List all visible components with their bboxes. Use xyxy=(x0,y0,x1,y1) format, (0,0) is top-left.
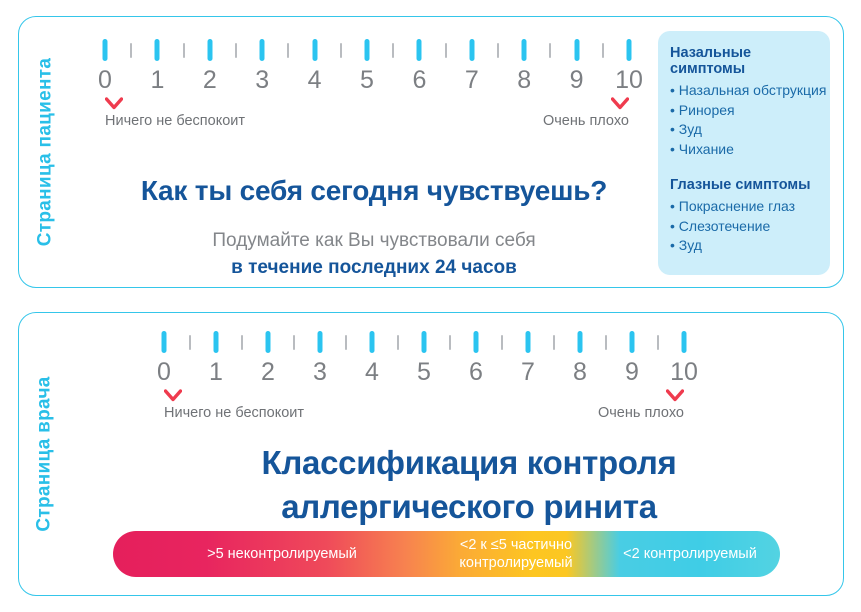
scale-number-8: 8 xyxy=(517,65,531,95)
scale-tick-minor xyxy=(287,43,289,58)
scale-number-3: 3 xyxy=(313,357,327,387)
scale-number-9: 9 xyxy=(570,65,584,95)
symptom-item: • Чихание xyxy=(670,140,818,160)
scale-number-4: 4 xyxy=(365,357,379,387)
chevron-down-icon xyxy=(666,389,684,402)
scale-tick-minor xyxy=(189,335,191,350)
scale-tick-minor xyxy=(183,43,185,58)
scale-tick-major xyxy=(214,331,219,353)
scale-tick-minor xyxy=(602,43,604,58)
scale-tick-major xyxy=(260,39,265,61)
scale-number-7: 7 xyxy=(465,65,479,95)
doctor-title-line1: Классификация контроля xyxy=(119,441,819,485)
scale-tick-minor xyxy=(445,43,447,58)
doctor-scale-numbers: 012345678910 xyxy=(164,357,684,389)
symptom-item: • Назальная обструкция xyxy=(670,81,818,101)
scale-tick-major xyxy=(417,39,422,61)
doctor-scale-ticks xyxy=(164,331,684,357)
chevron-down-icon xyxy=(611,97,629,110)
symptom-item: • Зуд xyxy=(670,120,818,140)
patient-subtitle-line2: в течение последних 24 часов xyxy=(79,257,669,279)
scale-tick-minor xyxy=(549,43,551,58)
scale-tick-major xyxy=(682,331,687,353)
scale-tick-major xyxy=(578,331,583,353)
scale-tick-minor xyxy=(657,335,659,350)
patient-anchor-right: Очень плохо xyxy=(543,97,629,129)
scale-tick-major xyxy=(312,39,317,61)
scale-tick-minor xyxy=(501,335,503,350)
patient-anchor-left: Ничего не беспокоит xyxy=(105,97,245,129)
scale-number-8: 8 xyxy=(573,357,587,387)
patient-scale-numbers: 012345678910 xyxy=(105,65,629,97)
scale-tick-minor xyxy=(345,335,347,350)
scale-tick-major xyxy=(155,39,160,61)
scale-number-5: 5 xyxy=(360,65,374,95)
scale-tick-minor xyxy=(241,335,243,350)
scale-number-10: 10 xyxy=(615,65,643,95)
scale-number-3: 3 xyxy=(255,65,269,95)
classification-segment-controlled: <2 контролируемый xyxy=(609,545,771,563)
doctor-page-title: Классификация контроля аллергического ри… xyxy=(119,441,819,529)
doctor-vas-scale[interactable]: 012345678910 Ничего не беспокоит Очень п… xyxy=(164,331,684,433)
symptom-item: • Покраснение глаз xyxy=(670,197,818,217)
patient-anchor-right-text: Очень плохо xyxy=(543,113,629,129)
scale-tick-major xyxy=(318,331,323,353)
scale-tick-minor xyxy=(397,335,399,350)
chevron-down-icon xyxy=(105,97,123,110)
patient-vas-scale[interactable]: 012345678910 Ничего не беспокоит Очень п… xyxy=(105,39,629,141)
scale-tick-major xyxy=(207,39,212,61)
scale-tick-major xyxy=(365,39,370,61)
scale-tick-major xyxy=(526,331,531,353)
scale-tick-major xyxy=(370,331,375,353)
scale-tick-major xyxy=(266,331,271,353)
scale-tick-major xyxy=(474,331,479,353)
scale-number-4: 4 xyxy=(308,65,322,95)
scale-number-2: 2 xyxy=(203,65,217,95)
chevron-down-icon xyxy=(164,389,182,402)
doctor-anchor-left: Ничего не беспокоит xyxy=(164,389,304,421)
doctor-side-label-text: Страница врача xyxy=(34,376,56,531)
scale-number-6: 6 xyxy=(469,357,483,387)
scale-tick-minor xyxy=(293,335,295,350)
doctor-anchor-left-text: Ничего не беспокоит xyxy=(164,405,304,421)
scale-number-2: 2 xyxy=(261,357,275,387)
scale-tick-minor xyxy=(235,43,237,58)
scale-number-5: 5 xyxy=(417,357,431,387)
symptoms-heading-ocular: Глазные симптомы xyxy=(670,177,818,193)
classification-segment-uncontrolled: >5 неконтролируемый xyxy=(137,545,427,563)
scale-tick-minor xyxy=(449,335,451,350)
scale-tick-minor xyxy=(497,43,499,58)
patient-side-label: Страница пациента xyxy=(19,17,71,287)
patient-scale-anchors: Ничего не беспокоит Очень плохо xyxy=(105,97,629,141)
scale-number-0: 0 xyxy=(98,65,112,95)
scale-number-0: 0 xyxy=(157,357,171,387)
classification-segment-partial: <2 к ≤5 частично контролируемый xyxy=(431,536,601,572)
scale-tick-major xyxy=(469,39,474,61)
patient-question-title: Как ты себя сегодня чувствуешь? xyxy=(79,175,669,207)
scale-tick-minor xyxy=(130,43,132,58)
scale-tick-major xyxy=(162,331,167,353)
patient-subtitle-line1: Подумайте как Вы чувствовали себя xyxy=(79,230,669,252)
doctor-side-label: Страница врача xyxy=(19,313,71,595)
scale-number-6: 6 xyxy=(412,65,426,95)
scale-tick-major xyxy=(627,39,632,61)
scale-tick-minor xyxy=(340,43,342,58)
doctor-page-card: Страница врача 012345678910 Ничего не бе… xyxy=(18,312,844,596)
symptom-item: • Зуд xyxy=(670,236,818,256)
symptoms-panel: Назальные симптомы • Назальная обструкци… xyxy=(658,31,830,275)
scale-tick-minor xyxy=(392,43,394,58)
scale-number-1: 1 xyxy=(209,357,223,387)
scale-number-9: 9 xyxy=(625,357,639,387)
symptom-item: • Ринорея xyxy=(670,101,818,121)
patient-anchor-left-text: Ничего не беспокоит xyxy=(105,113,245,129)
doctor-title-line2: аллергического ринита xyxy=(119,485,819,529)
scale-tick-major xyxy=(574,39,579,61)
scale-tick-major xyxy=(422,331,427,353)
scale-tick-major xyxy=(522,39,527,61)
symptoms-heading-nasal: Назальные симптомы xyxy=(670,45,818,77)
symptom-item: • Слезотечение xyxy=(670,217,818,237)
control-classification-bar: >5 неконтролируемый <2 к ≤5 частично кон… xyxy=(113,531,780,577)
doctor-anchor-right-text: Очень плохо xyxy=(598,405,684,421)
scale-tick-minor xyxy=(605,335,607,350)
patient-side-label-text: Страница пациента xyxy=(34,58,56,247)
scale-tick-minor xyxy=(553,335,555,350)
doctor-anchor-right: Очень плохо xyxy=(598,389,684,421)
scale-tick-major xyxy=(103,39,108,61)
scale-tick-major xyxy=(630,331,635,353)
patient-scale-ticks xyxy=(105,39,629,65)
scale-number-7: 7 xyxy=(521,357,535,387)
scale-number-1: 1 xyxy=(150,65,164,95)
patient-page-card: Страница пациента 012345678910 Ничего не… xyxy=(18,16,844,288)
scale-number-10: 10 xyxy=(670,357,698,387)
doctor-scale-anchors: Ничего не беспокоит Очень плохо xyxy=(164,389,684,433)
